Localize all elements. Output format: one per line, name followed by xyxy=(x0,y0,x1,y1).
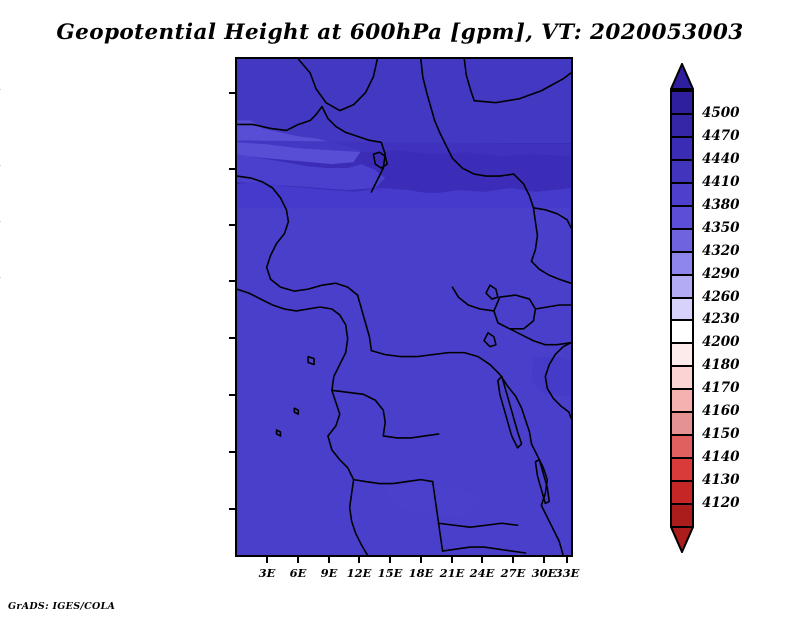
colorbar-band-0 xyxy=(672,92,692,115)
lon-label-9E: 9E xyxy=(321,566,338,580)
lon-label-6E: 6E xyxy=(290,566,307,580)
colorbar-band-12 xyxy=(672,367,692,390)
lon-label-24E: 24E xyxy=(470,566,495,580)
colorbar-label-4130: 4130 xyxy=(702,472,740,488)
lon-tick-18E xyxy=(420,557,422,563)
colorbar-bands xyxy=(670,90,694,526)
lon-label-21E: 21E xyxy=(440,566,465,580)
lon-tick-9E xyxy=(328,557,330,563)
grads-credit: GrADS: IGES/COLA xyxy=(8,601,115,612)
colorbar-label-4170: 4170 xyxy=(702,380,740,396)
colorbar-label-4350: 4350 xyxy=(702,220,740,236)
lon-label-27E: 27E xyxy=(501,566,526,580)
colorbar-label-4470: 4470 xyxy=(702,128,740,144)
colorbar-band-18 xyxy=(672,505,692,528)
colorbar-band-2 xyxy=(672,138,692,161)
colorbar-label-4290: 4290 xyxy=(702,266,740,282)
colorbar-band-9 xyxy=(672,299,692,322)
colorbar-band-4 xyxy=(672,184,692,207)
colorbar-label-4160: 4160 xyxy=(702,403,740,419)
lat-tick-5N xyxy=(229,280,235,282)
map-plot-area[interactable] xyxy=(235,57,573,557)
lon-label-18E: 18E xyxy=(409,566,434,580)
lon-tick-30E xyxy=(543,557,545,563)
colorbar-extend-min-arrow xyxy=(670,526,694,553)
colorbar-label-4500: 4500 xyxy=(702,105,740,121)
colorbar-label-4200: 4200 xyxy=(702,334,740,350)
colorbar-label-4260: 4260 xyxy=(702,289,740,305)
lon-label-3E: 3E xyxy=(259,566,276,580)
colorbar-band-6 xyxy=(672,230,692,253)
colorbar-band-3 xyxy=(672,161,692,184)
geopotential-height-field xyxy=(237,59,571,555)
lon-label-12E: 12E xyxy=(347,566,372,580)
colorbar-band-13 xyxy=(672,390,692,413)
lat-tick-5S xyxy=(229,394,235,396)
lon-tick-12E xyxy=(358,557,360,563)
lat-tick-15N xyxy=(229,168,235,170)
lat-tick-20N xyxy=(229,92,235,94)
lon-label-15E: 15E xyxy=(378,566,403,580)
colorbar-band-1 xyxy=(672,115,692,138)
colorbar-label-4150: 4150 xyxy=(702,426,740,442)
colorbar[interactable] xyxy=(670,63,694,553)
colorbar-band-5 xyxy=(672,207,692,230)
colorbar-label-4120: 4120 xyxy=(702,495,740,511)
lon-tick-15E xyxy=(389,557,391,563)
colorbar-band-16 xyxy=(672,459,692,482)
colorbar-label-4410: 4410 xyxy=(702,174,740,190)
coastline-and-border-lines xyxy=(237,59,571,555)
colorbar-label-4380: 4380 xyxy=(702,197,740,213)
lon-tick-24E xyxy=(481,557,483,563)
colorbar-band-10 xyxy=(672,321,692,344)
page-title: Geopotential Height at 600hPa [gpm], VT:… xyxy=(0,20,800,45)
lat-tick-15S xyxy=(229,508,235,510)
colorbar-band-17 xyxy=(672,482,692,505)
lon-tick-3E xyxy=(266,557,268,563)
lon-label-30E: 30E xyxy=(532,566,557,580)
colorbar-label-4320: 4320 xyxy=(702,243,740,259)
colorbar-band-14 xyxy=(672,413,692,436)
colorbar-band-7 xyxy=(672,253,692,276)
lat-tick-10N xyxy=(229,224,235,226)
colorbar-band-8 xyxy=(672,276,692,299)
lat-tick-EQ xyxy=(229,337,235,339)
colorbar-extend-max-arrow xyxy=(670,63,694,90)
lat-tick-10S xyxy=(229,451,235,453)
colorbar-band-11 xyxy=(672,344,692,367)
lon-label-33E: 33E xyxy=(555,566,580,580)
colorbar-label-4230: 4230 xyxy=(702,311,740,327)
lon-tick-33E xyxy=(566,557,568,563)
colorbar-label-4140: 4140 xyxy=(702,449,740,465)
lon-tick-27E xyxy=(512,557,514,563)
colorbar-label-4440: 4440 xyxy=(702,151,740,167)
colorbar-label-4180: 4180 xyxy=(702,357,740,373)
colorbar-band-15 xyxy=(672,436,692,459)
lon-tick-21E xyxy=(451,557,453,563)
lon-tick-6E xyxy=(297,557,299,563)
